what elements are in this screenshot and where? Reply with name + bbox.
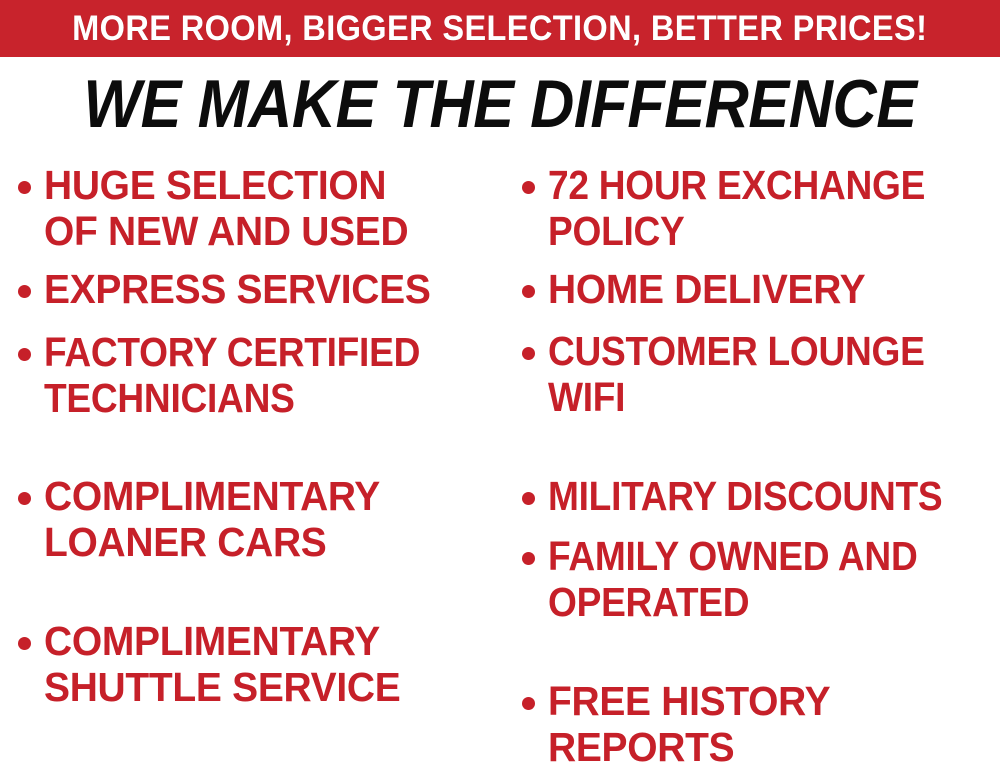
list-item: COMPLIMENTARY SHUTTLE SERVICE [18, 618, 496, 710]
top-banner: MORE ROOM, BIGGER SELECTION, BETTER PRIC… [0, 0, 1000, 57]
list-item: FREE HISTORY REPORTS [522, 678, 1000, 770]
list-item-label: 72 HOUR EXCHANGE POLICY [548, 162, 957, 254]
bullet-dot-icon [18, 181, 44, 194]
benefits-columns: HUGE SELECTION OF NEW AND USED EXPRESS S… [0, 158, 1000, 694]
list-item: HUGE SELECTION OF NEW AND USED [18, 162, 496, 254]
benefits-column-left: HUGE SELECTION OF NEW AND USED EXPRESS S… [18, 158, 496, 694]
bullet-dot-icon [18, 637, 44, 650]
list-item: COMPLIMENTARY LOANER CARS [18, 473, 496, 565]
bullet-dot-icon [522, 492, 548, 505]
list-item-label: EXPRESS SERVICES [44, 266, 473, 312]
list-item-label: HOME DELIVERY [548, 266, 977, 312]
list-item: HOME DELIVERY [522, 266, 1000, 312]
bullet-dot-icon [18, 492, 44, 505]
list-item: FACTORY CERTIFIED TECHNICIANS [18, 329, 496, 421]
page-title: WE MAKE THE DIFFERENCE [50, 68, 950, 140]
list-item-label: FACTORY CERTIFIED TECHNICIANS [44, 329, 453, 421]
list-item-label: CUSTOMER LOUNGE WIFI [548, 328, 957, 420]
list-item-label: COMPLIMENTARY SHUTTLE SERVICE [44, 618, 473, 710]
list-item: 72 HOUR EXCHANGE POLICY [522, 162, 1000, 254]
promo-poster: MORE ROOM, BIGGER SELECTION, BETTER PRIC… [0, 0, 1000, 694]
bullet-dot-icon [18, 348, 44, 361]
bullet-dot-icon [522, 285, 548, 298]
bullet-dot-icon [522, 181, 548, 194]
list-item: EXPRESS SERVICES [18, 266, 496, 312]
bullet-dot-icon [18, 285, 44, 298]
list-item: CUSTOMER LOUNGE WIFI [522, 328, 1000, 420]
benefits-column-right: 72 HOUR EXCHANGE POLICY HOME DELIVERY CU… [522, 158, 1000, 694]
list-item: FAMILY OWNED AND OPERATED [522, 533, 1000, 625]
list-item: MILITARY DISCOUNTS [522, 473, 1000, 519]
banner-headline-text: MORE ROOM, BIGGER SELECTION, BETTER PRIC… [72, 11, 927, 46]
list-item-label: FREE HISTORY REPORTS [548, 678, 977, 770]
bullet-dot-icon [522, 697, 548, 710]
list-item-label: COMPLIMENTARY LOANER CARS [44, 473, 473, 565]
list-item-label: HUGE SELECTION OF NEW AND USED [44, 162, 473, 254]
list-item-label: FAMILY OWNED AND OPERATED [548, 533, 957, 625]
bullet-dot-icon [522, 552, 548, 565]
list-item-label: MILITARY DISCOUNTS [548, 473, 957, 519]
bullet-dot-icon [522, 347, 548, 360]
